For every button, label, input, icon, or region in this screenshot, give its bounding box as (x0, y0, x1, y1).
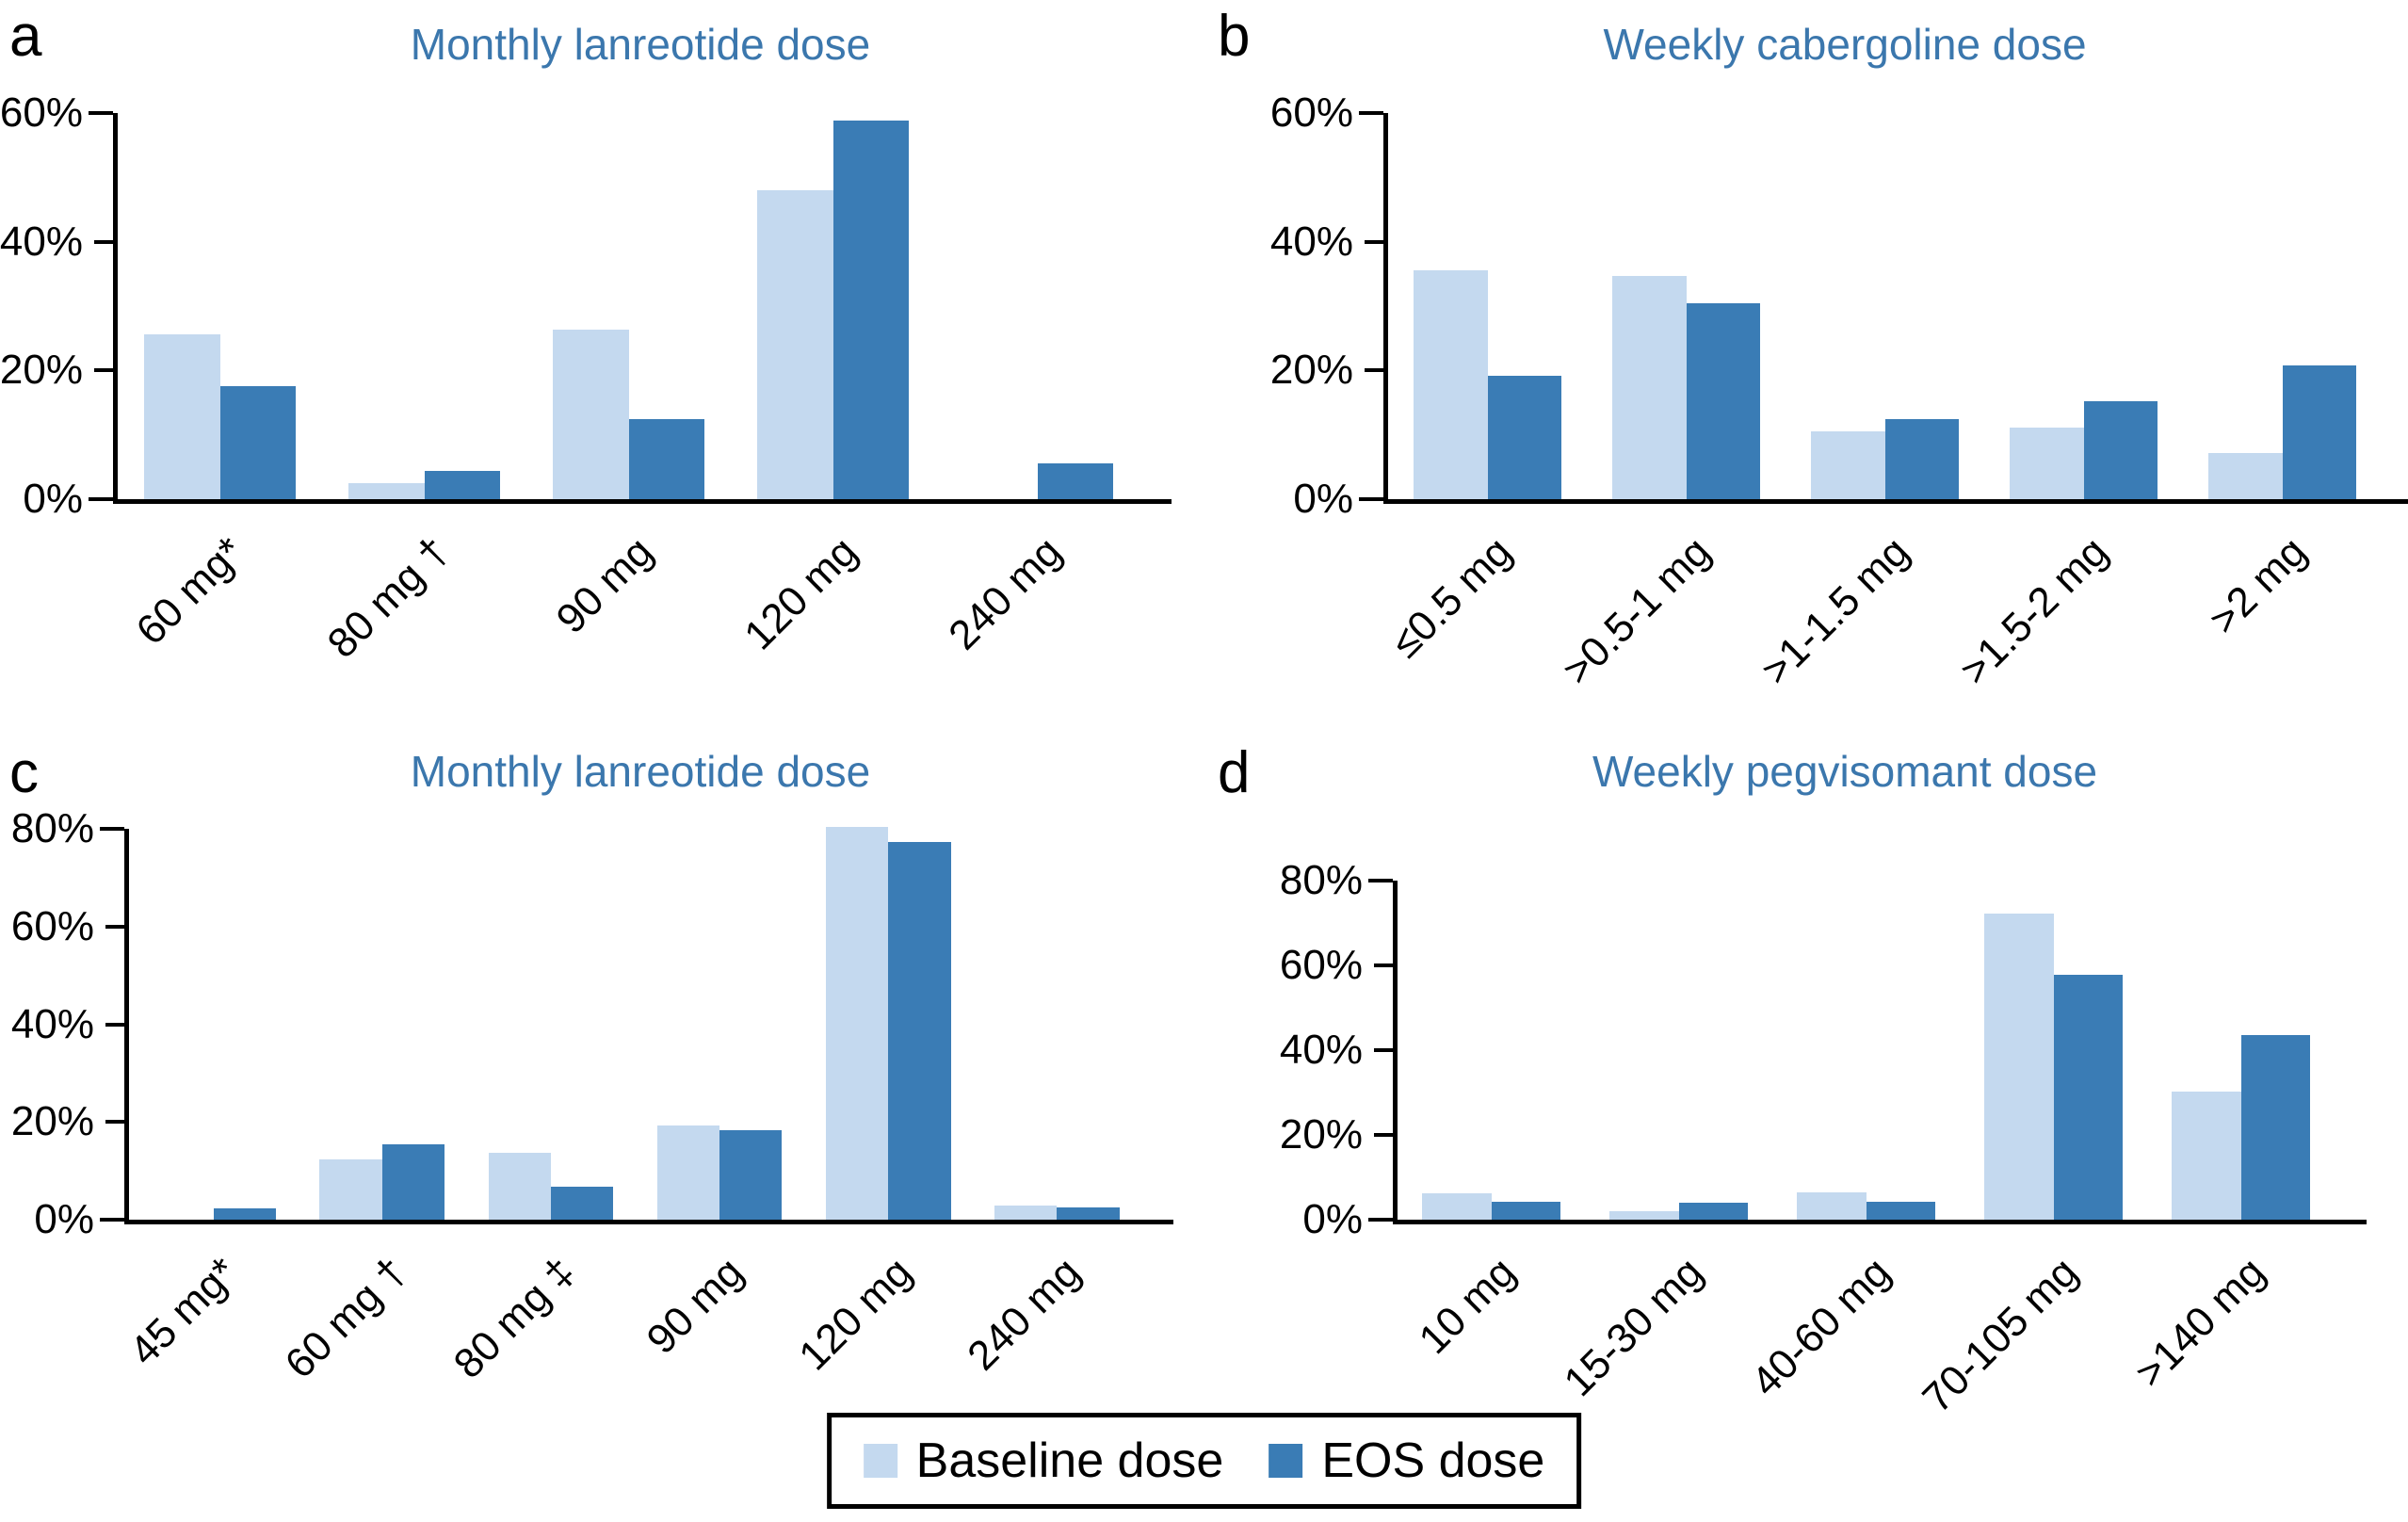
bar-c-2-eos (551, 1187, 613, 1220)
y-tick-a-0 (89, 497, 113, 501)
x-tick-label-d-3: 70-105 mg (1914, 1249, 2087, 1422)
bar-d-4-eos (2241, 1035, 2311, 1220)
bar-d-0-eos (1492, 1202, 1561, 1220)
y-tick-b-2 (1365, 240, 1383, 244)
x-tick-label-a-4: 240 mg (940, 528, 1071, 659)
y-tick-label-c-1: 20% (11, 1098, 94, 1145)
x-tick-label-b-4: >2 mg (2200, 528, 2316, 644)
bar-b-0-eos (1488, 376, 1561, 499)
bar-group-d-4 (2147, 881, 2335, 1220)
panel-d: d Weekly pegvisomant dose 10 mg15-30 mg4… (1204, 735, 2408, 1469)
bar-b-3-eos (2084, 401, 2158, 499)
x-tick-label-b-2: >1-1.5 mg (1753, 528, 1918, 694)
panel-letter-c: c (9, 744, 39, 802)
bar-group-b-4 (2183, 113, 2382, 499)
bar-d-2-baseline (1797, 1192, 1867, 1220)
y-tick-label-d-2: 40% (1280, 1027, 1363, 1074)
y-tick-label-d-3: 60% (1280, 942, 1363, 989)
bar-a-3-baseline (757, 190, 832, 499)
y-tick-b-3 (1359, 111, 1383, 115)
bar-c-4-eos (888, 842, 950, 1221)
y-tick-label-d-4: 80% (1280, 857, 1363, 904)
bar-c-2-baseline (489, 1153, 551, 1220)
bar-group-c-5 (973, 829, 1141, 1220)
bar-a-2-eos (629, 419, 704, 499)
bar-group-b-3 (1984, 113, 2183, 499)
x-axis-line-c (124, 1220, 1173, 1224)
y-tick-c-4 (100, 827, 124, 831)
bar-d-3-baseline (1984, 914, 2054, 1220)
bar-c-0-eos (214, 1208, 276, 1220)
y-tick-label-b-0: 0% (1293, 476, 1353, 523)
bar-groups-a (118, 113, 1139, 499)
panel-a: a Monthly lanreotide dose 60 mg*80 mg †9… (0, 0, 1204, 753)
legend-swatch-eos-icon (1269, 1444, 1302, 1478)
bar-d-2-eos (1867, 1202, 1936, 1220)
bar-b-4-baseline (2208, 453, 2282, 499)
panel-title-a: Monthly lanreotide dose (170, 19, 1111, 70)
x-tick-label-c-3: 90 mg (638, 1249, 753, 1364)
x-axis-line-d (1393, 1220, 2367, 1224)
bar-group-d-3 (1960, 881, 2147, 1220)
plot-inner-d: 10 mg15-30 mg40-60 mg70-105 mg>140 mg 0%… (1393, 881, 2335, 1224)
x-tick-label-b-0: ≤0.5 mg (1382, 528, 1521, 668)
y-tick-c-1 (105, 1120, 124, 1124)
x-tick-label-c-2: 80 mg ‡ (445, 1249, 585, 1388)
bar-d-1-baseline (1609, 1211, 1679, 1220)
plot-inner-a: 60 mg*80 mg †90 mg120 mg240 mg 0%20%40%6… (113, 113, 1139, 504)
y-tick-label-d-0: 0% (1302, 1196, 1363, 1243)
x-tick-label-b-1: >0.5-1 mg (1554, 528, 1720, 694)
bar-a-1-eos (425, 471, 500, 499)
bar-c-1-eos (382, 1144, 444, 1220)
bar-group-c-0 (129, 829, 298, 1220)
bar-b-2-eos (1885, 419, 1959, 499)
y-tick-label-b-2: 40% (1270, 219, 1353, 266)
bar-groups-b (1388, 113, 2382, 499)
x-tick-label-a-3: 120 mg (735, 528, 866, 659)
bar-group-c-4 (804, 829, 973, 1220)
y-tick-d-0 (1368, 1218, 1393, 1222)
bar-group-d-0 (1398, 881, 1585, 1220)
y-tick-label-b-1: 20% (1270, 347, 1353, 394)
figure-panel-grid: a Monthly lanreotide dose 60 mg*80 mg †9… (0, 0, 2408, 1522)
y-tick-c-3 (105, 925, 124, 929)
bar-group-c-2 (466, 829, 635, 1220)
y-tick-label-c-3: 60% (11, 903, 94, 950)
y-tick-label-a-1: 20% (0, 347, 83, 394)
bar-b-4-eos (2283, 365, 2356, 499)
y-tick-label-c-4: 80% (11, 805, 94, 852)
bar-group-d-1 (1585, 881, 1772, 1220)
x-tick-label-a-1: 80 mg † (318, 528, 458, 668)
y-tick-d-2 (1374, 1048, 1393, 1052)
bar-c-3-eos (719, 1130, 782, 1220)
x-tick-label-d-1: 15-30 mg (1555, 1249, 1712, 1406)
bar-group-a-2 (526, 113, 731, 499)
x-tick-label-c-1: 60 mg † (276, 1249, 415, 1388)
bar-group-a-1 (322, 113, 526, 499)
x-tick-label-a-0: 60 mg* (127, 528, 253, 655)
plot-inner-b: ≤0.5 mg>0.5-1 mg>1-1.5 mg>1.5-2 mg>2 mg … (1383, 113, 2382, 504)
legend-label-eos: EOS dose (1321, 1433, 1544, 1489)
y-tick-d-3 (1374, 963, 1393, 967)
panel-title-b: Weekly cabergoline dose (1374, 19, 2316, 70)
x-tick-label-c-0: 45 mg* (121, 1249, 247, 1375)
bar-a-1-baseline (348, 483, 424, 499)
y-tick-label-c-2: 40% (11, 1001, 94, 1048)
y-tick-c-0 (100, 1218, 124, 1222)
x-tick-label-d-2: 40-60 mg (1742, 1249, 1899, 1406)
bar-a-0-eos (220, 386, 296, 499)
panel-title-d: Weekly pegvisomant dose (1374, 746, 2316, 797)
x-tick-label-d-4: >140 mg (2126, 1249, 2274, 1397)
bar-group-a-0 (118, 113, 322, 499)
panel-letter-a: a (9, 8, 41, 66)
x-axis-line-b (1383, 499, 2408, 504)
bar-group-a-4 (935, 113, 1139, 499)
chart-legend: Baseline dose EOS dose (827, 1413, 1582, 1509)
bar-a-4-eos (1038, 463, 1113, 499)
bar-group-c-1 (298, 829, 466, 1220)
y-tick-label-d-1: 20% (1280, 1111, 1363, 1158)
legend-item-baseline: Baseline dose (864, 1433, 1224, 1489)
bar-b-3-baseline (2010, 428, 2083, 499)
bar-group-b-1 (1587, 113, 1786, 499)
bar-c-3-baseline (657, 1125, 719, 1220)
panel-title-c: Monthly lanreotide dose (170, 746, 1111, 797)
panel-b: b Weekly cabergoline dose ≤0.5 mg>0.5-1 … (1204, 0, 2408, 753)
y-tick-label-a-0: 0% (23, 476, 83, 523)
plot-area-d: 10 mg15-30 mg40-60 mg70-105 mg>140 mg 0%… (1393, 881, 2335, 1224)
bar-a-3-eos (833, 121, 909, 499)
bar-a-0-baseline (144, 334, 219, 499)
bar-d-3-eos (2054, 975, 2124, 1220)
y-tick-a-1 (94, 368, 113, 372)
plot-area-c: 45 mg*60 mg †80 mg ‡90 mg120 mg240 mg 0%… (124, 829, 1141, 1224)
legend-swatch-baseline-icon (864, 1444, 897, 1478)
bar-group-d-2 (1772, 881, 1960, 1220)
bar-d-1-eos (1679, 1203, 1749, 1220)
bar-group-b-0 (1388, 113, 1587, 499)
bar-c-1-baseline (319, 1159, 381, 1220)
legend-item-eos: EOS dose (1269, 1433, 1544, 1489)
bar-d-4-baseline (2172, 1092, 2241, 1220)
bar-group-c-3 (636, 829, 804, 1220)
x-tick-label-a-2: 90 mg (547, 528, 662, 643)
legend-label-baseline: Baseline dose (916, 1433, 1224, 1489)
bar-group-b-2 (1786, 113, 1984, 499)
y-tick-d-1 (1374, 1133, 1393, 1137)
bar-groups-d (1398, 881, 2335, 1220)
y-tick-label-b-3: 60% (1270, 89, 1353, 137)
bar-a-2-baseline (553, 330, 628, 499)
panel-letter-d: d (1218, 744, 1250, 802)
plot-inner-c: 45 mg*60 mg †80 mg ‡90 mg120 mg240 mg 0%… (124, 829, 1141, 1224)
panel-letter-b: b (1218, 8, 1250, 66)
bar-c-5-baseline (994, 1206, 1057, 1220)
panel-c: c Monthly lanreotide dose 45 mg*60 mg †8… (0, 735, 1204, 1469)
plot-area-b: ≤0.5 mg>0.5-1 mg>1-1.5 mg>1.5-2 mg>2 mg … (1383, 113, 2382, 504)
y-tick-a-3 (89, 111, 113, 115)
y-tick-d-4 (1368, 879, 1393, 882)
y-tick-label-a-2: 40% (0, 219, 83, 266)
x-tick-label-c-5: 240 mg (960, 1249, 1091, 1380)
x-tick-label-b-3: >1.5-2 mg (1951, 528, 2117, 694)
bar-d-0-baseline (1422, 1193, 1492, 1220)
bar-b-1-eos (1687, 303, 1760, 499)
bar-c-4-baseline (826, 827, 888, 1220)
bar-b-1-baseline (1612, 276, 1686, 499)
y-tick-b-0 (1359, 497, 1383, 501)
y-tick-a-2 (94, 240, 113, 244)
bar-b-2-baseline (1811, 431, 1884, 499)
x-axis-line-a (113, 499, 1172, 504)
y-tick-c-2 (105, 1023, 124, 1027)
x-tick-label-c-4: 120 mg (790, 1249, 921, 1380)
bar-b-0-baseline (1414, 270, 1487, 499)
bar-group-a-3 (731, 113, 935, 499)
bar-groups-c (129, 829, 1141, 1220)
bar-c-5-eos (1057, 1207, 1119, 1220)
y-tick-b-1 (1365, 368, 1383, 372)
y-tick-label-a-3: 60% (0, 89, 83, 137)
x-tick-label-d-0: 10 mg (1410, 1249, 1525, 1364)
y-tick-label-c-0: 0% (34, 1196, 94, 1243)
plot-area-a: 60 mg*80 mg †90 mg120 mg240 mg 0%20%40%6… (113, 113, 1139, 504)
